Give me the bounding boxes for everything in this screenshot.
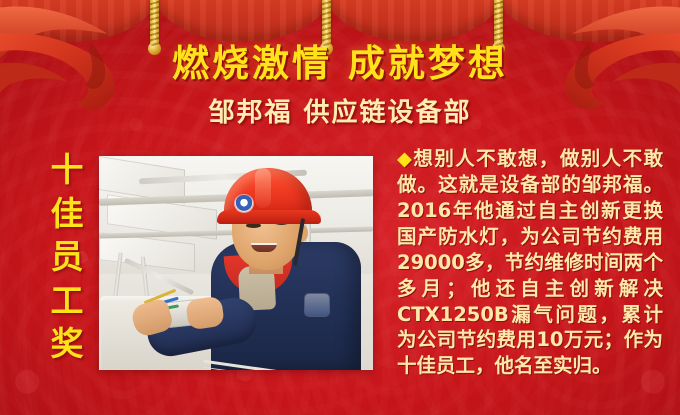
worker-hard-hat-brim — [217, 210, 321, 224]
award-poster: 燃烧激情 成就梦想 邹邦福 供应链设备部 十 佳 员 工 奖 — [0, 0, 680, 415]
bullet-diamond-icon: ◆ — [397, 147, 413, 170]
worker-hard-hat-ridge — [255, 168, 271, 208]
award-char: 奖 — [46, 322, 88, 366]
poster-subtitle: 邹邦福 供应链设备部 — [0, 92, 680, 129]
worker-uniform-logo — [305, 294, 329, 316]
award-title-vertical: 十 佳 员 工 奖 — [46, 148, 88, 366]
citation-body: 想别人不敢想，做别人不敢做。这就是设备部的邹邦福。2016年他通过自主创新更换国… — [397, 147, 663, 377]
employee-photo-frame — [99, 156, 373, 370]
award-char: 十 — [46, 148, 88, 192]
poster-headline: 燃烧激情 成就梦想 — [0, 33, 680, 87]
worker-hard-hat-badge — [235, 195, 253, 212]
employee-photo — [99, 156, 373, 370]
award-char: 工 — [46, 279, 88, 323]
award-char: 佳 — [46, 192, 88, 236]
award-char: 员 — [46, 235, 88, 279]
citation-text: ◆想别人不敢想，做别人不敢做。这就是设备部的邹邦福。2016年他通过自主创新更换… — [397, 146, 663, 379]
